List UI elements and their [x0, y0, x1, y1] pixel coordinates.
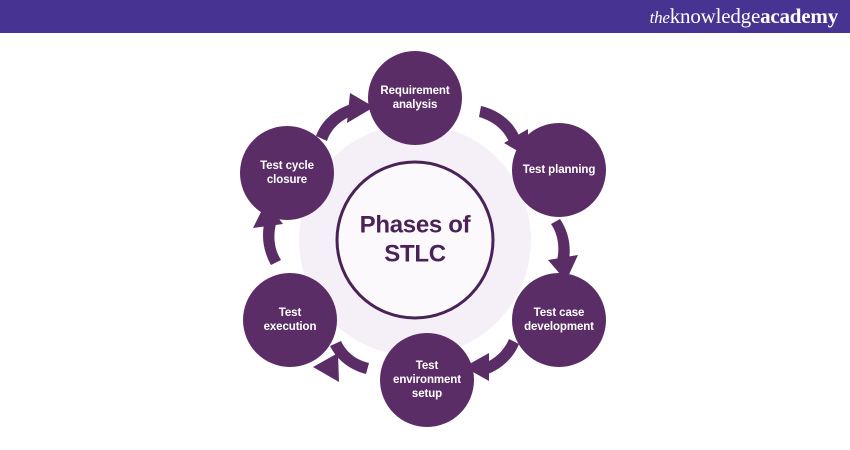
brand-logo-academy: academy [760, 4, 838, 28]
page-header: theknowledgeacademy [0, 0, 850, 33]
arrow-planning-to-testcase [548, 219, 578, 281]
node-requirement-analysis[interactable] [368, 51, 462, 145]
center-title: Phases of STLC [330, 211, 500, 270]
node-test-environment-setup[interactable] [380, 333, 474, 427]
brand-logo-the: the [650, 8, 670, 27]
stlc-cycle-diagram: Requirement analysis Test planning Test … [0, 33, 850, 450]
brand-logo-knowledge: knowledge [670, 4, 760, 28]
node-test-planning[interactable] [512, 123, 606, 217]
center-title-line-1: Phases of [330, 211, 500, 240]
node-test-case-development[interactable] [512, 273, 606, 367]
brand-logo: theknowledgeacademy [650, 6, 838, 27]
center-title-line-2: STLC [330, 240, 500, 269]
arrow-closure-to-requirement [316, 93, 374, 141]
node-test-cycle-closure[interactable] [240, 126, 334, 220]
node-test-execution[interactable] [243, 273, 337, 367]
infographic-page: theknowledgeacademy [0, 0, 850, 450]
